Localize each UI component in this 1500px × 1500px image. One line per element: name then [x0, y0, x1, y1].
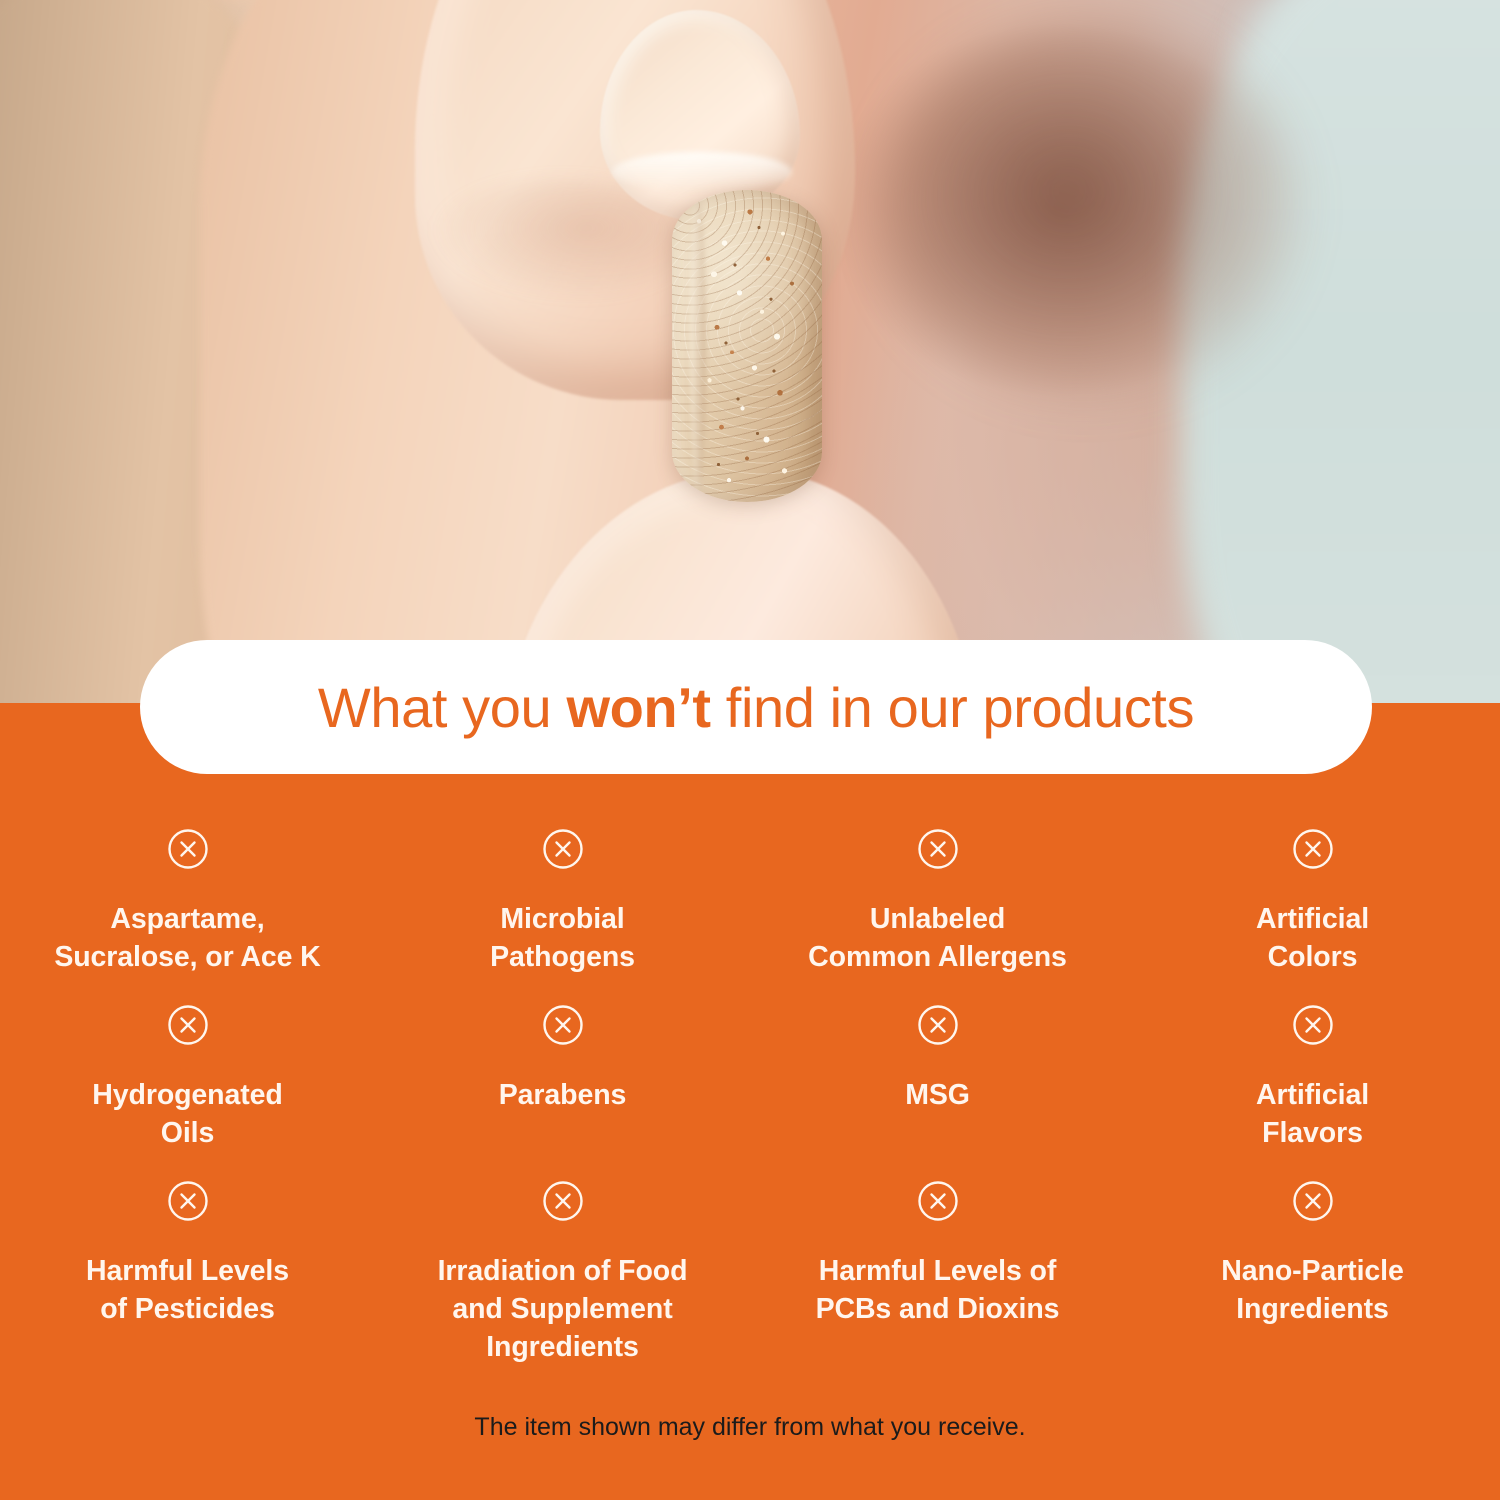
grid-item-label: Artificial Flavors [1256, 1077, 1369, 1152]
grid-item-label: Irradiation of Food and Supplement Ingre… [438, 1253, 688, 1366]
grid-item-label: Microbial Pathogens [490, 901, 635, 976]
grid-item: Parabens [390, 976, 735, 1152]
grid-item-label: Harmful Levels of Pesticides [86, 1253, 289, 1328]
grid-item: Artificial Flavors [1140, 976, 1485, 1152]
circle-x-icon [1292, 828, 1334, 875]
grid-item: Hydrogenated Oils [15, 976, 360, 1152]
circle-x-icon [542, 1004, 584, 1051]
grid-item-label: Artificial Colors [1256, 901, 1369, 976]
title-emphasis: won’t [566, 676, 710, 739]
page-title: What you won’t find in our products [318, 675, 1194, 740]
grid-item: MSG [765, 976, 1110, 1152]
product-photo [0, 0, 1500, 703]
photo-background-shadow [880, 20, 1300, 400]
supplement-tablet [672, 190, 822, 502]
circle-x-icon [917, 828, 959, 875]
grid-item-label: Nano-Particle Ingredients [1221, 1253, 1403, 1328]
grid-item: Irradiation of Food and Supplement Ingre… [390, 1152, 735, 1366]
grid-item-label: Aspartame, Sucralose, or Ace K [54, 901, 320, 976]
circle-x-icon [542, 828, 584, 875]
grid-item: Microbial Pathogens [390, 800, 735, 976]
title-suffix: find in our products [711, 676, 1194, 739]
circle-x-icon [542, 1180, 584, 1227]
grid-item-label: Unlabeled Common Allergens [808, 901, 1067, 976]
grid-item-label: MSG [905, 1077, 970, 1115]
grid-item: Harmful Levels of Pesticides [15, 1152, 360, 1366]
grid-item: Nano-Particle Ingredients [1140, 1152, 1485, 1366]
title-prefix: What you [318, 676, 567, 739]
grid-item: Artificial Colors [1140, 800, 1485, 976]
circle-x-icon [167, 828, 209, 875]
circle-x-icon [1292, 1004, 1334, 1051]
circle-x-icon [1292, 1180, 1334, 1227]
promo-infographic: What you won’t find in our products Aspa… [0, 0, 1500, 1500]
grid-item: Aspartame, Sucralose, or Ace K [15, 800, 360, 976]
circle-x-icon [917, 1180, 959, 1227]
exclusions-grid: Aspartame, Sucralose, or Ace K Microbial… [0, 800, 1500, 1366]
grid-item: Unlabeled Common Allergens [765, 800, 1110, 976]
grid-item-label: Hydrogenated Oils [92, 1077, 282, 1152]
grid-item-label: Harmful Levels of PCBs and Dioxins [816, 1253, 1060, 1328]
disclaimer-text: The item shown may differ from what you … [0, 1413, 1500, 1442]
circle-x-icon [167, 1180, 209, 1227]
headline-card: What you won’t find in our products [140, 640, 1372, 774]
tablet-seam [690, 194, 706, 498]
circle-x-icon [167, 1004, 209, 1051]
grid-item-label: Parabens [499, 1077, 627, 1115]
circle-x-icon [917, 1004, 959, 1051]
grid-item: Harmful Levels of PCBs and Dioxins [765, 1152, 1110, 1366]
thumbnail-edge [612, 152, 792, 192]
